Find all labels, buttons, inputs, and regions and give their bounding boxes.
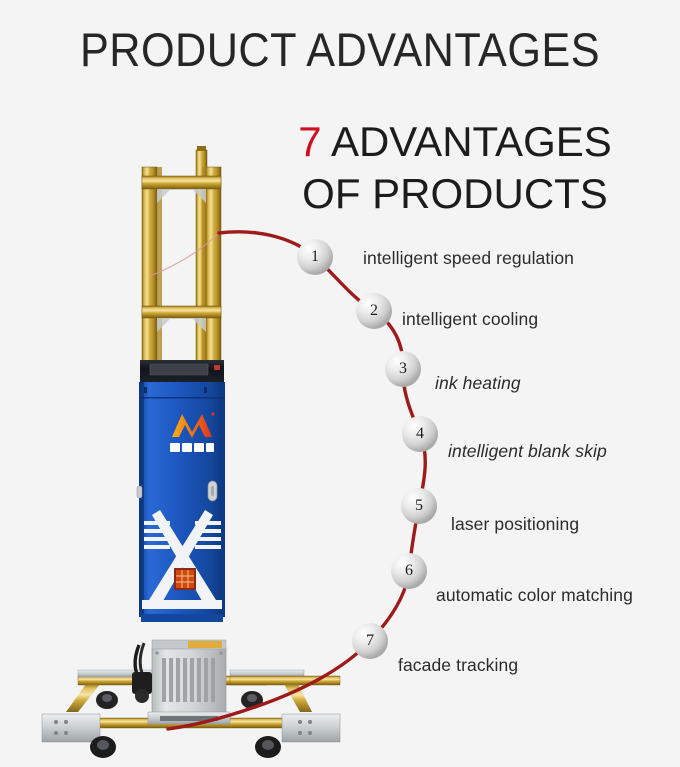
advantage-label-5: laser positioning — [451, 514, 579, 535]
advantage-markers — [0, 0, 680, 767]
advantage-label-2: intelligent cooling — [402, 309, 538, 330]
advantage-label-1: intelligent speed regulation — [363, 248, 574, 269]
advantage-label-6: automatic color matching — [436, 585, 633, 606]
advantage-number-3: 3 — [385, 360, 421, 378]
advantage-number-1: 1 — [297, 248, 333, 266]
advantage-label-7: facade tracking — [398, 655, 518, 676]
advantage-number-6: 6 — [391, 562, 427, 580]
advantage-number-7: 7 — [352, 632, 388, 650]
advantage-number-2: 2 — [356, 302, 392, 320]
advantage-label-4: intelligent blank skip — [448, 441, 607, 462]
poster-canvas: PRODUCT ADVANTAGES 7 ADVANTAGES OF PRODU… — [0, 0, 680, 767]
advantage-number-5: 5 — [401, 497, 437, 515]
advantage-label-3: ink heating — [435, 373, 521, 394]
advantage-number-4: 4 — [402, 425, 438, 443]
